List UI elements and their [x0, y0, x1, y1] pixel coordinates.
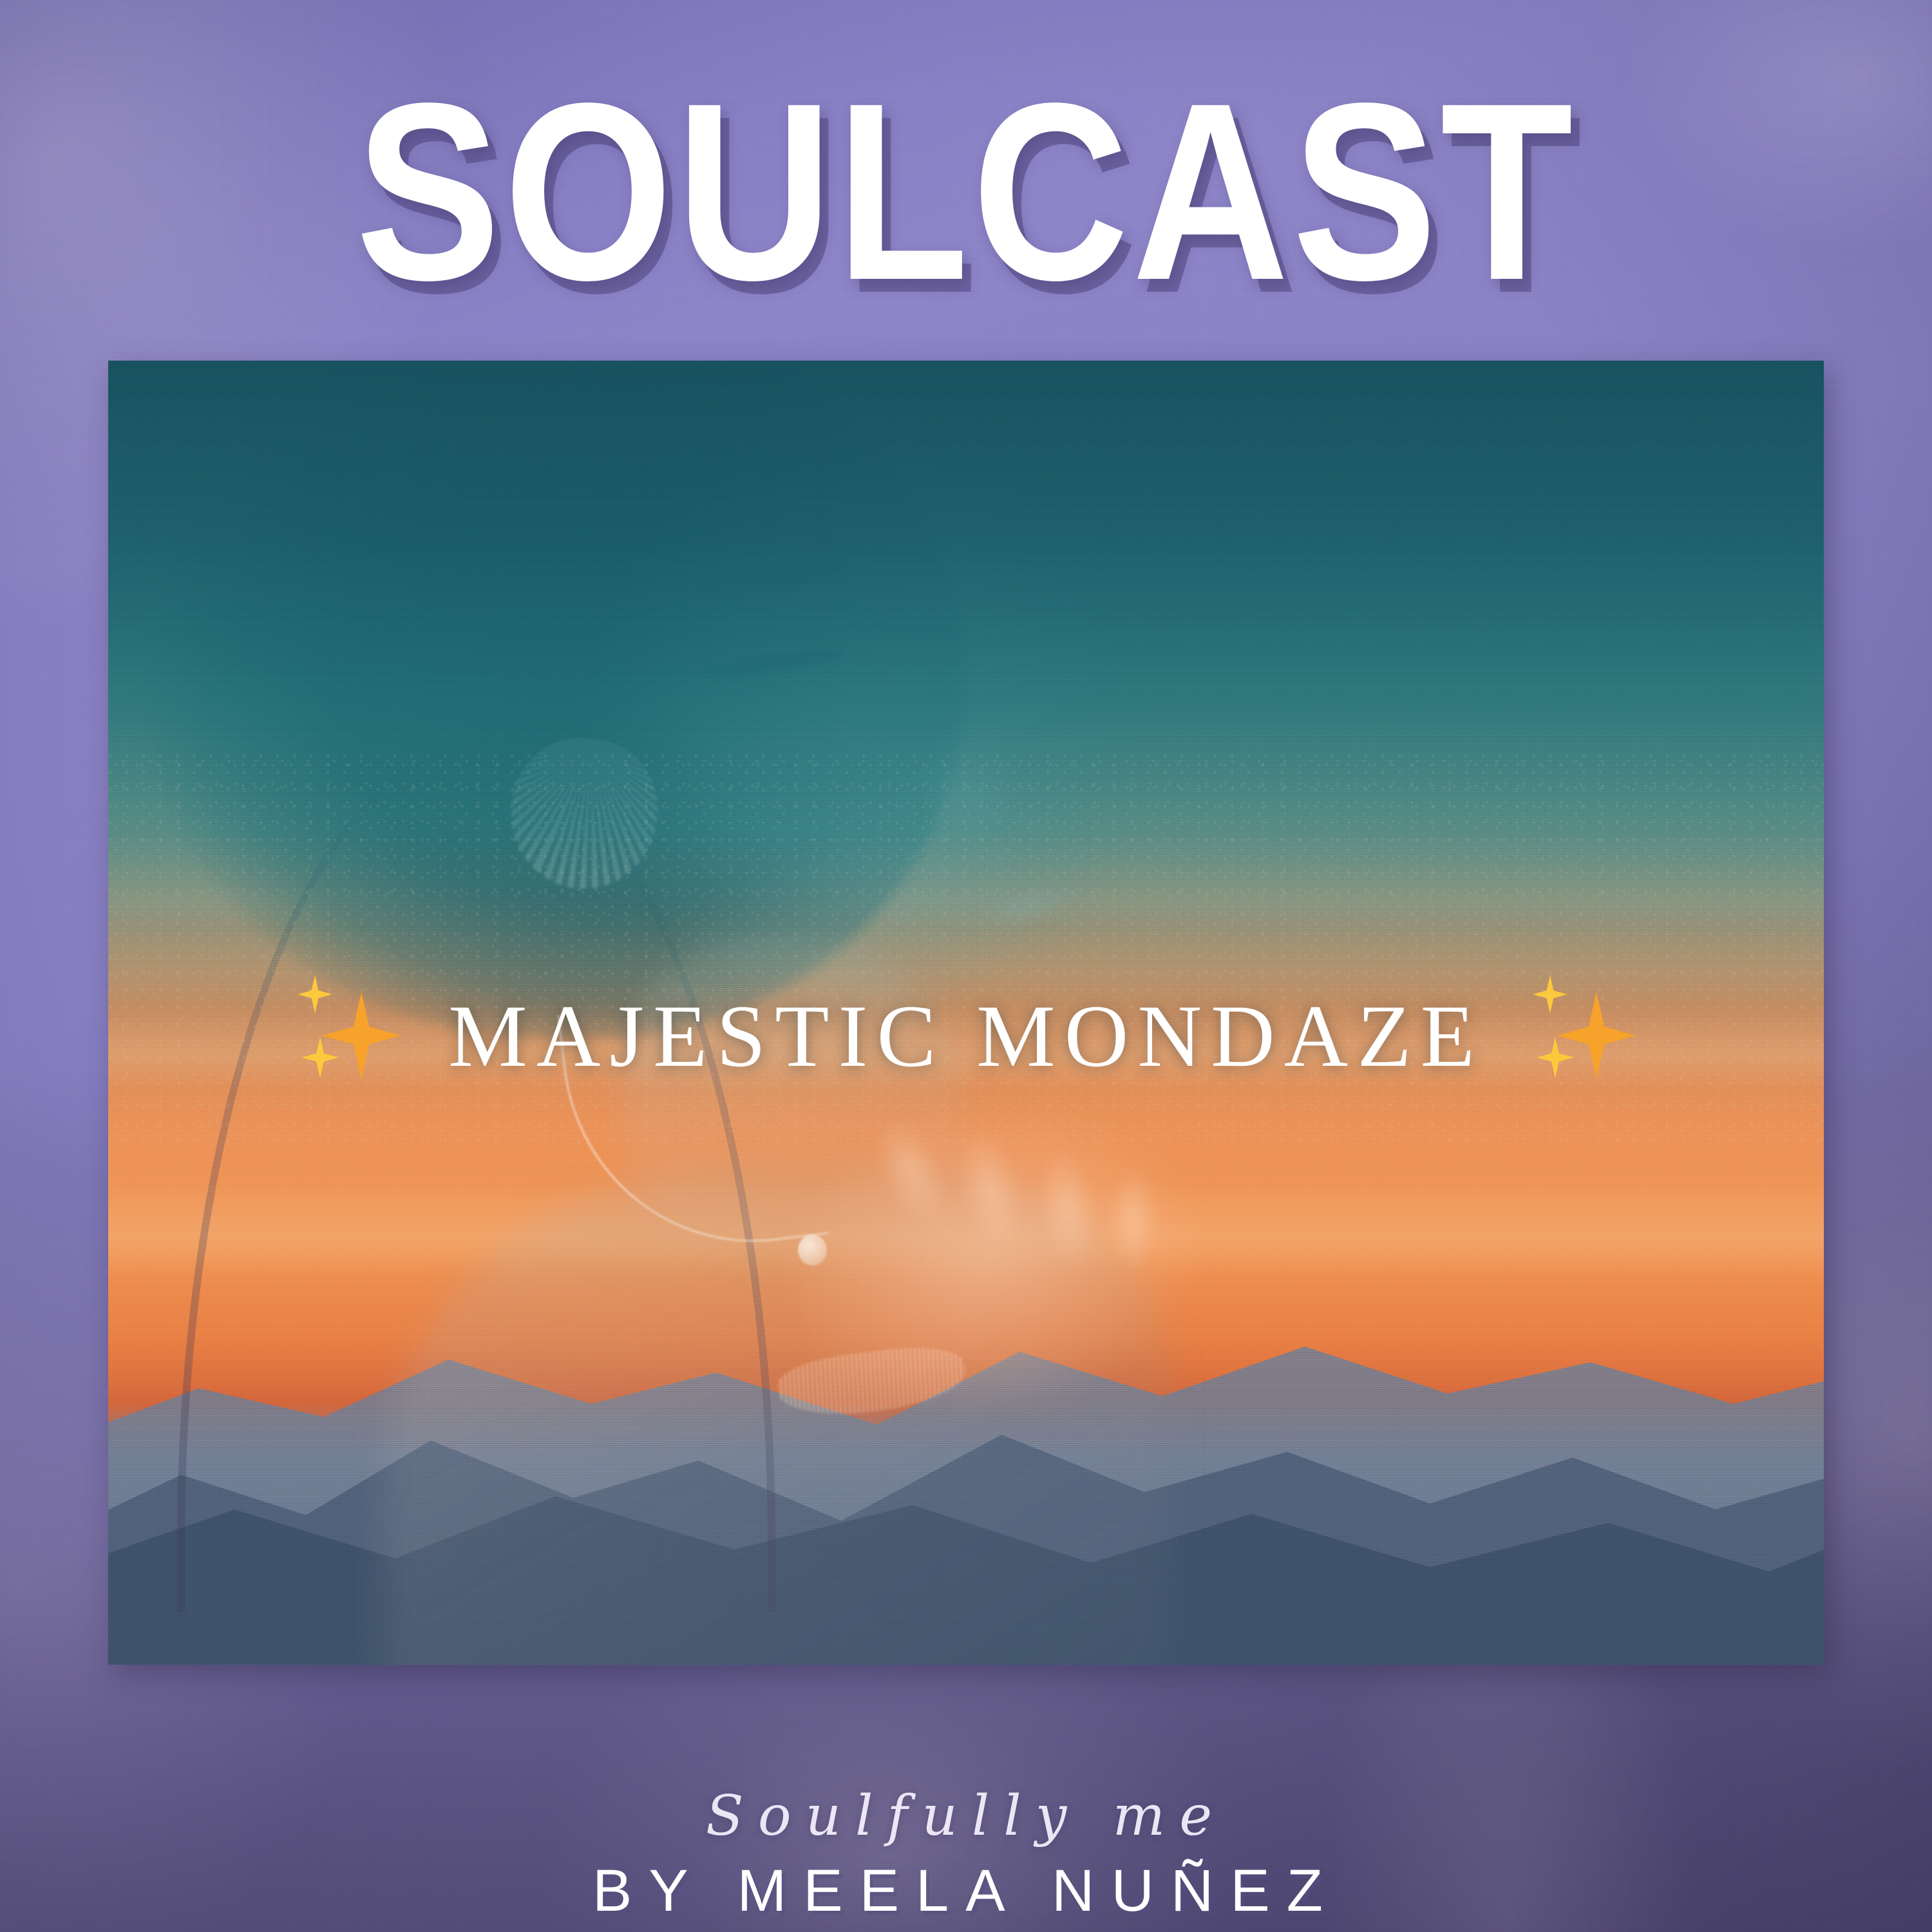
show-title: SOULCAST — [135, 76, 1797, 308]
byline-author: BY MEELA NUÑEZ — [0, 1857, 1932, 1925]
episode-title-row: MAJESTIC MONDAZE — [0, 969, 1932, 1104]
tagline: Soulfully me — [0, 1784, 1932, 1848]
sparkles-icon-left — [294, 975, 403, 1097]
sparkle-star-small — [301, 1037, 339, 1078]
episode-title: MAJESTIC MONDAZE — [448, 992, 1484, 1081]
sparkle-star-large — [1557, 992, 1636, 1079]
sparkle-star-small — [298, 975, 332, 1014]
sparkles-icon-right — [1529, 975, 1638, 1097]
podcast-cover-art: SOULCAST — [0, 0, 1932, 1932]
sparkle-star-small — [1533, 975, 1567, 1014]
sparkle-star-small — [1537, 1037, 1574, 1078]
sparkle-star-large — [322, 992, 401, 1079]
